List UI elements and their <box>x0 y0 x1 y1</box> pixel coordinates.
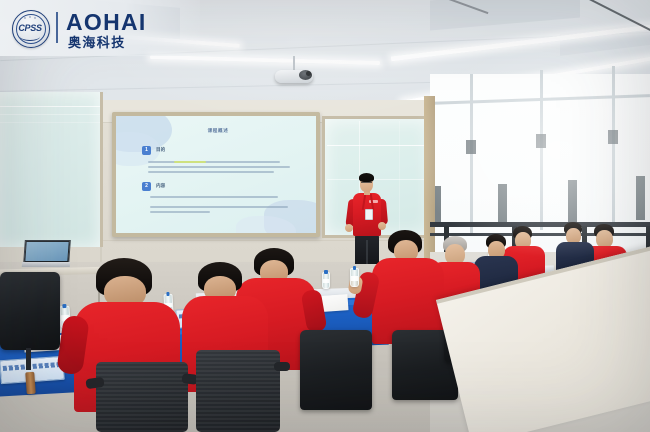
watermark-brand-bar: CPSS AOHAI 奥海科技 <box>0 0 200 56</box>
balcony-railing-top <box>430 222 650 227</box>
brand-name-cn: 奥海科技 <box>68 32 126 51</box>
photo-scene: 课程概述 1 目的 2 内容 <box>0 0 650 432</box>
laptop-keyboard-base <box>22 262 71 267</box>
slide-item-heading: 内容 <box>156 183 165 189</box>
window-mullion <box>540 70 543 230</box>
slide-text-line <box>150 196 278 198</box>
glasses-icon <box>361 182 372 186</box>
office-chair[interactable] <box>96 362 188 432</box>
window-mullion <box>470 74 473 234</box>
presenter-hand-left <box>345 224 353 232</box>
office-chair[interactable] <box>0 272 60 350</box>
window-bracket <box>568 180 577 222</box>
laptop-display <box>25 242 68 261</box>
office-chair[interactable] <box>196 350 280 432</box>
slide-text-line <box>148 161 280 163</box>
cpss-emblem-arc <box>20 32 40 41</box>
slide-text-highlight <box>174 161 206 163</box>
office-chair[interactable] <box>300 330 372 410</box>
window-mullion <box>612 66 615 226</box>
presenter-hand-right <box>378 222 386 230</box>
slide-title: 课程概述 <box>178 128 258 134</box>
water-bottle <box>350 268 359 287</box>
window-bracket <box>498 184 507 224</box>
window-bracket <box>536 134 546 148</box>
brand-divider <box>56 12 58 43</box>
slide-text-line <box>150 206 288 208</box>
glass-whiteboard-left <box>0 92 103 247</box>
projection-screen: 课程概述 1 目的 2 内容 <box>116 116 316 233</box>
balcony-railing-rail <box>430 233 650 236</box>
water-bottle <box>322 272 330 289</box>
window-bracket <box>608 130 618 144</box>
presenter-leg-gap <box>366 240 368 264</box>
window-bracket <box>636 176 645 220</box>
beverage-bottle <box>25 372 36 395</box>
door-jamb <box>424 96 435 278</box>
wall-seam <box>100 240 430 241</box>
slide-item-number: 2 <box>142 182 151 191</box>
window-bracket <box>466 140 476 154</box>
slide-item-number: 1 <box>142 146 151 155</box>
slide-text-line <box>150 211 210 213</box>
slide-text-line <box>148 171 274 173</box>
badge-card <box>365 209 373 220</box>
projector-lens-center <box>306 71 311 76</box>
presenter-hair <box>359 173 374 182</box>
slide-text-line <box>148 166 290 168</box>
chair-armrest <box>274 362 290 371</box>
chair-post <box>26 348 31 370</box>
slide-item-heading: 目的 <box>156 147 165 153</box>
